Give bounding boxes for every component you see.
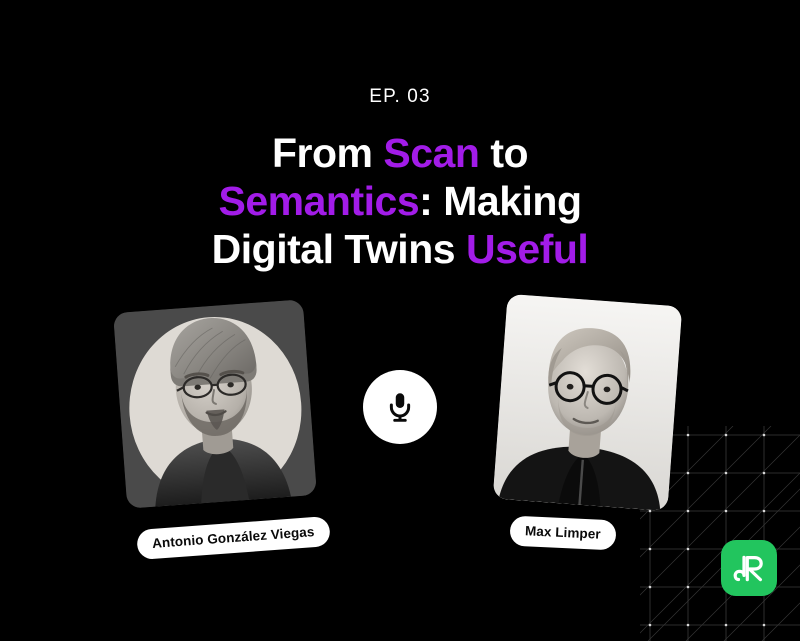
brand-logo[interactable] xyxy=(721,540,777,596)
title-part-from: From xyxy=(272,130,383,176)
episode-label: EP. 03 xyxy=(0,86,800,108)
title-line-2: Semantics: Making xyxy=(0,178,800,226)
guest-card-right xyxy=(493,294,683,511)
brand-logo-icon xyxy=(730,549,768,587)
guest-name-right: Max Limper xyxy=(509,516,616,551)
title-line-1: From Scan to xyxy=(0,130,800,178)
guest-card-left xyxy=(113,299,317,508)
page-title: From Scan to Semantics: Making Digital T… xyxy=(0,130,800,274)
title-part-to: to xyxy=(479,130,528,176)
guest-name-left: Antonio González Viegas xyxy=(136,516,330,560)
microphone-icon xyxy=(383,390,417,424)
title-part-digital-twins: Digital Twins xyxy=(212,226,466,272)
title-accent-useful: Useful xyxy=(466,226,588,272)
title-accent-semantics: Semantics xyxy=(218,178,419,224)
guest-photo-right xyxy=(493,294,683,511)
title-part-making: : Making xyxy=(419,178,581,224)
podcast-episode-poster: EP. 03 From Scan to Semantics: Making Di… xyxy=(0,0,800,641)
title-accent-scan: Scan xyxy=(383,130,479,176)
guest-photo-left xyxy=(113,299,317,508)
microphone-badge xyxy=(363,370,437,444)
title-line-3: Digital Twins Useful xyxy=(0,226,800,274)
